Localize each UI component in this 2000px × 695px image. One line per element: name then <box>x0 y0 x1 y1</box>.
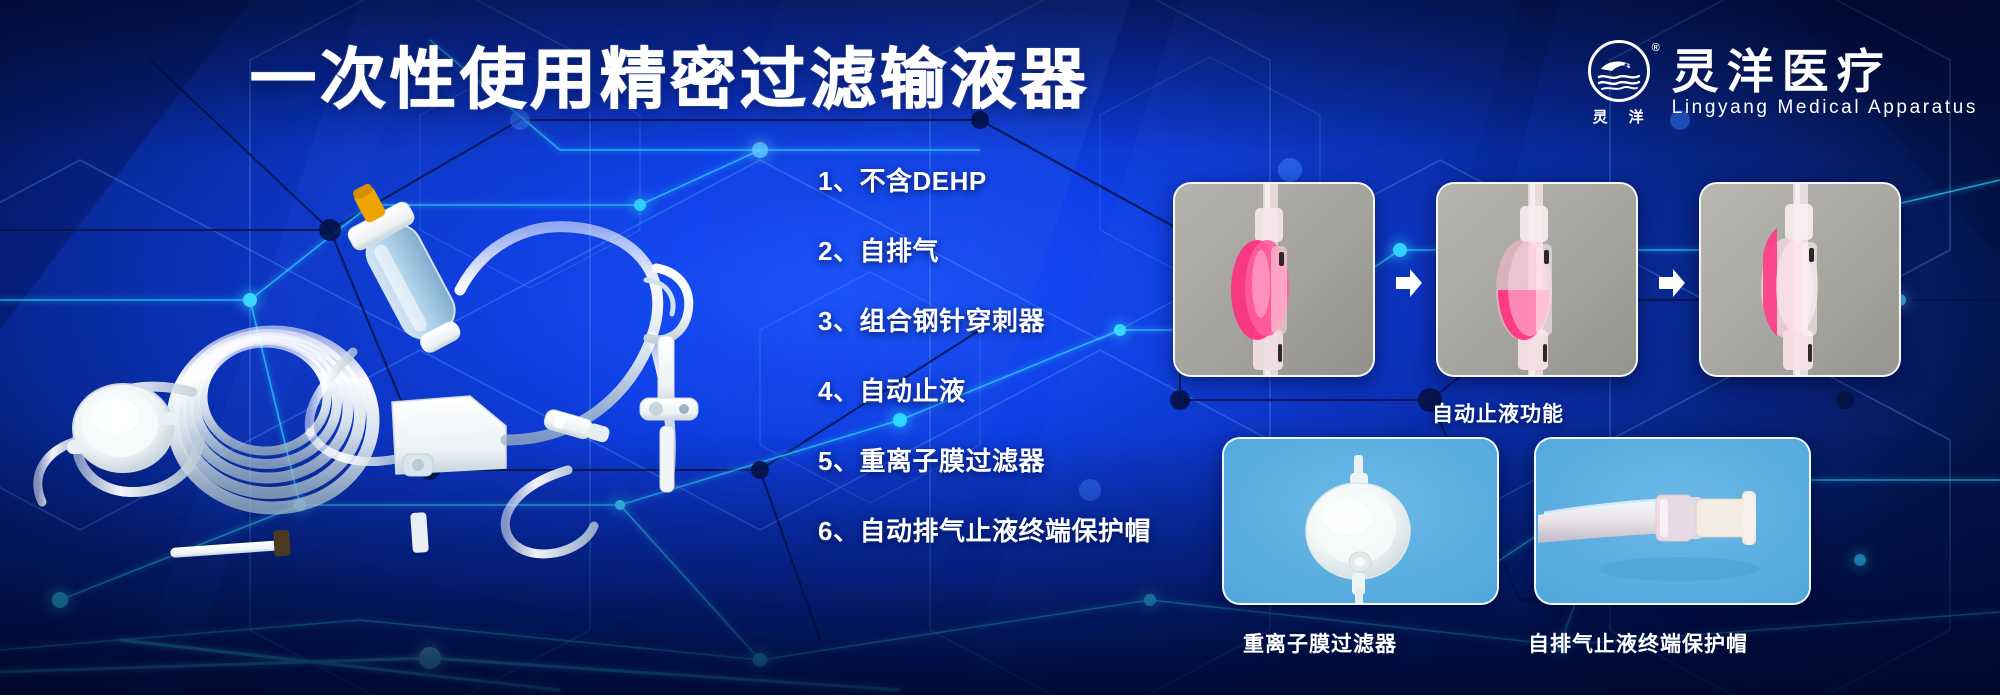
feature-item-4: 4、自动止液 <box>818 378 1178 404</box>
feature-item-5: 5、重离子膜过滤器 <box>818 448 1178 474</box>
drip-chamber-part <box>330 171 475 362</box>
feature-item-6: 6、自动排气止液终端保护帽 <box>818 518 1178 544</box>
wave-fish-icon <box>1591 43 1647 99</box>
filter-photo <box>1224 439 1499 605</box>
brand-text: 灵洋医疗 Lingyang Medical Apparatus <box>1672 48 1978 120</box>
filter-panel <box>1222 437 1499 605</box>
logo-mark-char-right: 洋 <box>1629 106 1645 127</box>
infusion-set-illustration <box>20 140 720 560</box>
sequence-arrow-1-icon <box>1396 268 1422 298</box>
feature-item-1: 1、不含DEHP <box>818 168 1178 194</box>
auto-stop-step-1-photo <box>1175 184 1375 377</box>
logo-mark-subtext: 灵 洋 <box>1593 106 1645 127</box>
logo-mark: ® 灵 洋 <box>1588 40 1650 127</box>
auto-stop-step-1-panel <box>1173 182 1375 377</box>
auto-stop-step-2-photo <box>1438 184 1638 377</box>
sequence-arrow-2-icon <box>1659 268 1685 298</box>
product-hero-image <box>20 140 720 560</box>
auto-stop-step-3-panel <box>1699 182 1901 377</box>
caption-cap: 自排气止液终端保护帽 <box>1528 628 1748 658</box>
brand-name-en: Lingyang Medical Apparatus <box>1672 97 1978 119</box>
brand-name-cn: 灵洋医疗 <box>1672 48 1892 96</box>
feature-item-3: 3、组合钢针穿刺器 <box>818 308 1178 334</box>
logo-circle-icon <box>1588 40 1650 102</box>
feature-item-2: 2、自排气 <box>818 238 1178 264</box>
registered-mark-icon: ® <box>1652 42 1660 54</box>
auto-stop-step-2-panel <box>1436 182 1638 377</box>
caption-filter: 重离子膜过滤器 <box>1243 628 1397 658</box>
product-banner: 一次性使用精密过滤输液器 ® 灵 洋 灵洋医疗 <box>0 0 2000 695</box>
steel-needle-part <box>169 512 429 560</box>
logo-mark-char-left: 灵 <box>1593 106 1609 127</box>
needle-assembly-part <box>640 268 698 492</box>
roller-clamp-part <box>392 396 506 476</box>
brand-logo: ® 灵 洋 灵洋医疗 Lingyang Medical Apparatus <box>1588 40 1978 127</box>
caption-auto-stop: 自动止液功能 <box>1432 398 1564 428</box>
page-title: 一次性使用精密过滤输液器 <box>250 46 1090 112</box>
protective-cap-photo <box>1536 439 1811 605</box>
auto-stop-step-3-photo <box>1701 184 1901 377</box>
feature-list: 1、不含DEHP 2、自排气 3、组合钢针穿刺器 4、自动止液 5、重离子膜过滤… <box>818 168 1178 544</box>
protective-cap-panel <box>1534 437 1811 605</box>
